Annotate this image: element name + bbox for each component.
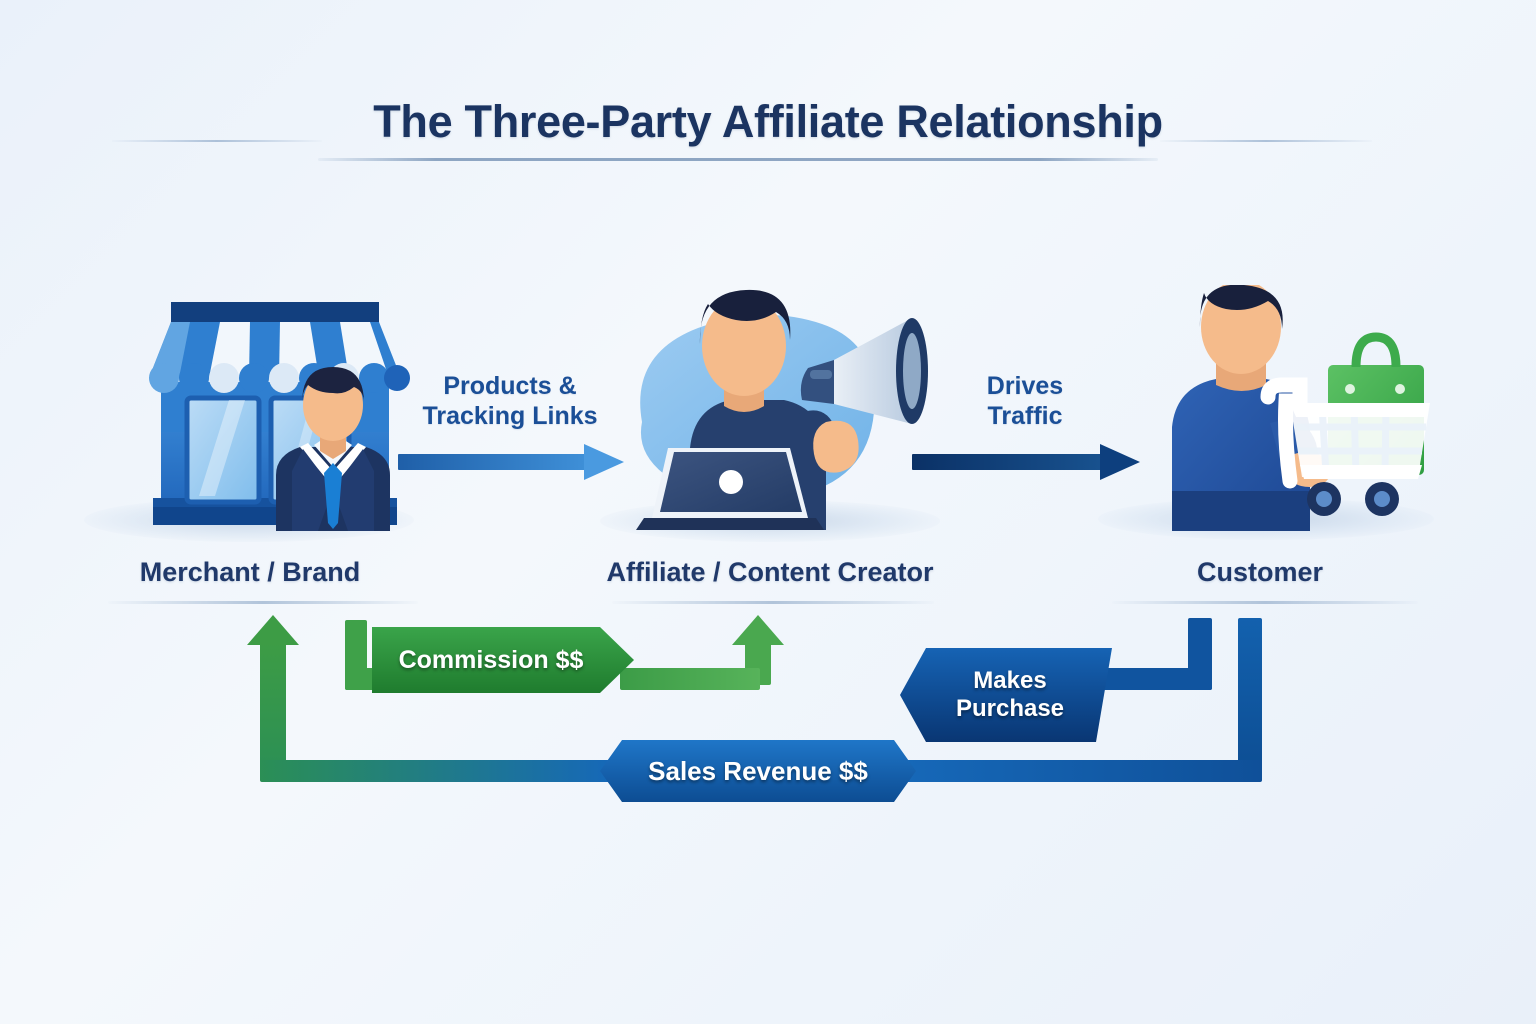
flow-label-line2: Traffic [987,402,1062,430]
commission-arrowhead-to-merchant [247,615,299,645]
flow-label-line1: Drives [987,372,1063,400]
merchant-divider [108,601,418,604]
node-label-customer: Customer [1060,557,1460,588]
revenue-link-left [260,760,610,782]
title-underline [318,158,1158,161]
affiliate-illustration-icon [612,282,942,532]
flow-label-line1: Products & [443,372,576,400]
purchase-label-line1: Makes [973,667,1046,695]
node-label-affiliate: Affiliate / Content Creator [545,557,995,588]
revenue-link-right [905,760,1262,782]
affiliate-divider [612,601,934,604]
commission-link-right [620,668,760,690]
businessman-avatar-icon [258,363,408,531]
commission-riser-left [260,643,286,775]
commission-arrowhead-to-affiliate [732,615,784,645]
customer-illustration-icon [1150,285,1440,533]
flow-label-line2: Tracking Links [422,402,597,430]
node-label-merchant: Merchant / Brand [50,557,450,588]
arrow-affiliate-to-customer [912,452,1140,472]
purchase-label-line2: Purchase [956,695,1064,723]
banner-label-commission: Commission $$ [372,627,610,693]
page-title: The Three-Party Affiliate Relationship [0,96,1536,148]
banner-label-sales-revenue: Sales Revenue $$ [600,740,916,802]
customer-divider [1112,601,1418,604]
infographic-canvas: The Three-Party Affiliate Relationship [0,0,1536,1024]
banner-label-makes-purchase: Makes Purchase [920,648,1100,742]
revenue-riser-from-customer [1238,618,1262,764]
arrow-merchant-to-affiliate [398,452,624,472]
